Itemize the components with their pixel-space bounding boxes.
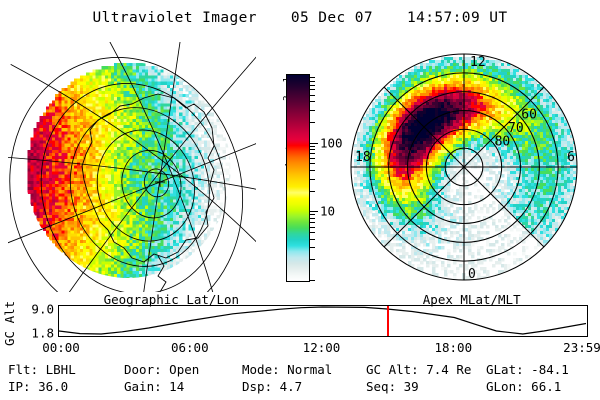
timeline-plot-area[interactable] [58, 305, 588, 337]
colorbar-tick [310, 77, 315, 78]
colorbar-tick [310, 239, 315, 240]
altitude-timeline[interactable]: GC Alt 9.01.800:0006:0012:0018:0023:59Ge… [0, 296, 600, 352]
status-field-value: LBHL [38, 362, 76, 377]
colorbar-tick-label: 10 [320, 204, 335, 219]
timeline-x-tick-label: 00:00 [42, 340, 80, 355]
status-field-value: 14 [162, 379, 185, 394]
status-field-key: Flt: [8, 362, 38, 377]
geographic-aurora-image [8, 42, 256, 292]
colorbar-tick [310, 89, 315, 90]
colorbar-tick [310, 149, 315, 150]
mlat-label: 80 [495, 134, 511, 149]
mlt-label: 0 [468, 267, 476, 282]
altitude-curve [59, 306, 586, 335]
mlt-label: 12 [470, 55, 486, 70]
timeline-x-tick-label: 23:59 [563, 340, 600, 355]
status-row: Flt: LBHLDoor: OpenMode: NormalGC Alt: 7… [0, 362, 600, 378]
apex-aurora-image: 121860607080 [336, 42, 592, 292]
colorbar-tick [310, 122, 315, 123]
status-field-key: IP: [8, 379, 31, 394]
colorbar-major-tick [310, 143, 318, 144]
current-time-marker [387, 306, 389, 336]
mlt-label: 18 [355, 150, 371, 165]
status-field: Seq: 39 [366, 379, 419, 394]
colorbar: photon cm-2s-1 10010 [258, 66, 332, 292]
header-bar: Ultraviolet Imager 05 Dec 07 14:57:09 UT [0, 6, 600, 30]
geographic-subtitle: Geographic Lat/Lon [104, 292, 239, 307]
colorbar-tick [310, 110, 315, 111]
colorbar-tick [310, 227, 315, 228]
timeline-x-tick-label: 12:00 [303, 340, 341, 355]
colorbar-tick [310, 247, 315, 248]
status-field-value: 39 [396, 379, 419, 394]
colorbar-box [286, 74, 310, 282]
colorbar-tick [310, 222, 315, 223]
colorbar-tick [310, 232, 315, 233]
apex-subtitle: Apex MLat/MLT [423, 292, 521, 307]
status-field-value: 66.1 [524, 379, 562, 394]
timeline-x-tick-label: 06:00 [171, 340, 209, 355]
status-field: Flt: LBHL [8, 362, 76, 377]
observation-time: 14:57:09 UT [407, 10, 507, 26]
mlt-label: 6 [567, 150, 575, 165]
status-field: Gain: 14 [124, 379, 184, 394]
status-field-value: 36.0 [31, 379, 69, 394]
timeline-x-tick-label: 18:00 [434, 340, 472, 355]
geographic-panel[interactable]: Geographic Lat/Lon [8, 42, 256, 292]
status-field: IP: 36.0 [8, 379, 68, 394]
timeline-y-tick-label: 9.0 [22, 301, 54, 316]
colorbar-gradient [287, 75, 309, 281]
status-row: IP: 36.0Gain: 14Dsp: 4.7Seq: 39GLon: 66.… [0, 379, 600, 395]
colorbar-tick [310, 280, 315, 281]
colorbar-major-tick [310, 211, 318, 212]
colorbar-tick [310, 153, 315, 154]
colorbar-tick [310, 170, 315, 171]
colorbar-tick [310, 146, 315, 147]
status-field: Door: Open [124, 362, 199, 377]
status-field-value: Normal [280, 362, 333, 377]
colorbar-tick [310, 95, 315, 96]
status-field-value: -84.1 [524, 362, 569, 377]
status-footer: Flt: LBHLDoor: OpenMode: NormalGC Alt: 7… [0, 362, 600, 400]
observation-date: 05 Dec 07 [291, 10, 373, 26]
colorbar-tick [310, 214, 315, 215]
timeline-y-tick-label: 1.8 [22, 326, 54, 341]
colorbar-tick [310, 85, 315, 86]
status-field: GLat: -84.1 [486, 362, 569, 377]
status-field-key: GC Alt: [366, 362, 419, 377]
status-field-key: GLon: [486, 379, 524, 394]
status-field-key: Mode: [242, 362, 280, 377]
status-field-value: 4.7 [272, 379, 302, 394]
apex-panel[interactable]: 121860607080 Apex MLat/MLT [336, 42, 592, 292]
timeline-y-axis-label: GC Alt [2, 302, 20, 346]
status-field-key: Seq: [366, 379, 396, 394]
colorbar-tick [310, 218, 315, 219]
colorbar-tick [310, 81, 315, 82]
colorbar-tick [310, 158, 315, 159]
colorbar-tick [310, 191, 315, 192]
colorbar-tick [310, 101, 315, 102]
instrument-title: Ultraviolet Imager [93, 10, 257, 26]
colorbar-tick [310, 259, 315, 260]
colorbar-tick [310, 179, 315, 180]
status-field-key: Door: [124, 362, 162, 377]
colorbar-tick [310, 163, 315, 164]
status-field-key: Gain: [124, 379, 162, 394]
mlat-label: 70 [508, 121, 524, 136]
status-field-key: Dsp: [242, 379, 272, 394]
status-field: GLon: 66.1 [486, 379, 561, 394]
status-field: Mode: Normal [242, 362, 332, 377]
status-field: GC Alt: 7.4 Re [366, 362, 471, 377]
status-field: Dsp: 4.7 [242, 379, 302, 394]
status-field-value: Open [162, 362, 200, 377]
status-field-key: GLat: [486, 362, 524, 377]
status-field-value: 7.4 Re [419, 362, 472, 377]
